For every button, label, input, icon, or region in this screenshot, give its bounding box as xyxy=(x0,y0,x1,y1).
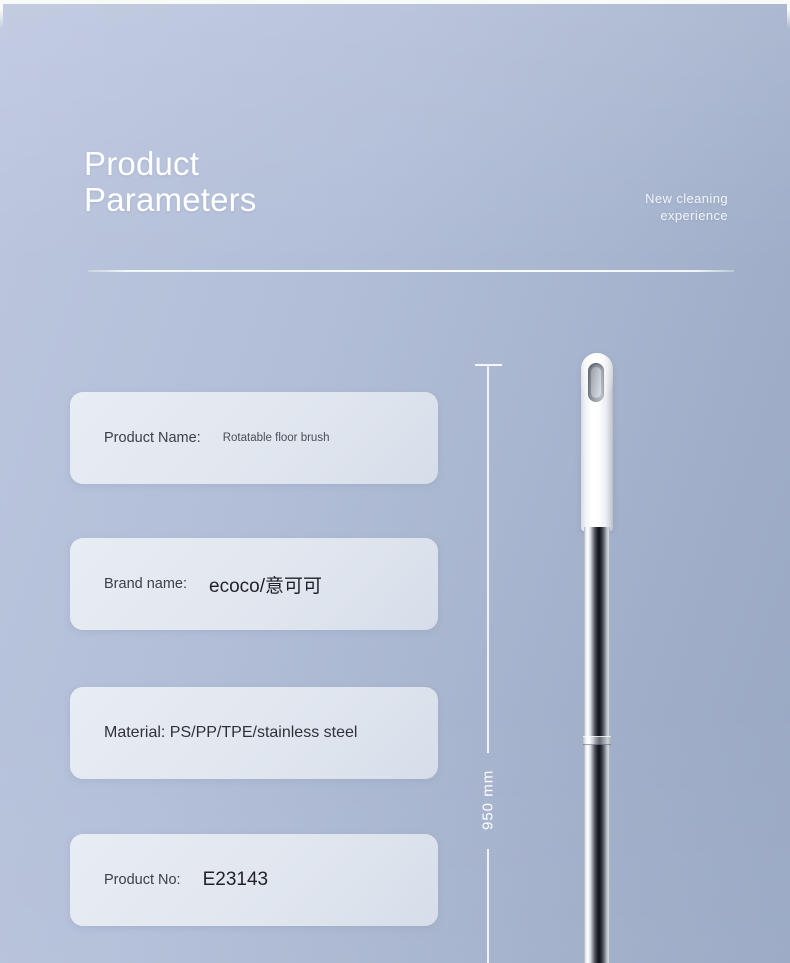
parameter-label: Brand name: xyxy=(104,576,187,592)
parameter-card-product-no: Product No: E23143 xyxy=(70,834,438,926)
parameter-label: Product No: xyxy=(104,872,181,888)
parameter-card-product-name: Product Name: Rotatable floor brush xyxy=(70,392,438,484)
parameter-value: E23143 xyxy=(203,869,269,891)
parameter-value: ecoco/意可可 xyxy=(209,571,322,598)
parameter-value: Rotatable floor brush xyxy=(223,427,330,449)
product-parameters-poster: Product Parameters New cleaning experien… xyxy=(0,0,790,963)
pole-joint-ring xyxy=(583,736,611,745)
parameter-label: Product Name: xyxy=(104,430,201,446)
header-divider xyxy=(88,270,734,272)
dimension-line-upper xyxy=(487,364,489,753)
dimension-line-lower xyxy=(487,849,489,963)
stainless-steel-pole xyxy=(584,527,610,963)
parameter-line: Material: PS/PP/TPE/stainless steel xyxy=(104,724,357,742)
page-title: Product Parameters xyxy=(84,146,257,218)
top-edge-border xyxy=(0,0,790,4)
hanging-hole-inner xyxy=(591,367,601,398)
dimension-measurement-label: 950 mm xyxy=(466,758,510,842)
parameter-card-brand-name: Brand name: ecoco/意可可 xyxy=(70,538,438,630)
left-edge-border xyxy=(0,0,3,963)
tagline-text: New cleaning experience xyxy=(645,190,728,224)
parameter-card-material: Material: PS/PP/TPE/stainless steel xyxy=(70,687,438,779)
